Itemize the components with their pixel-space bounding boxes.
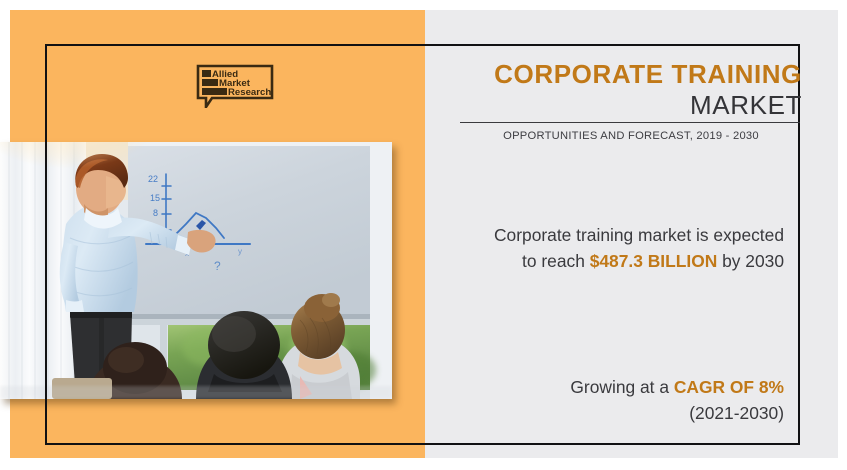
- page-title-secondary: MARKET: [460, 91, 802, 120]
- title-divider-rule: [460, 122, 800, 123]
- infographic-root: 22 15 8 3 x y ?: [0, 0, 847, 470]
- page-title-primary: CORPORATE TRAINING: [460, 60, 802, 89]
- svg-text:Research: Research: [228, 87, 271, 98]
- market-value-statement: Corporate training market is expected to…: [440, 222, 784, 275]
- stat-line-1: Corporate training market is expected: [494, 225, 784, 245]
- market-value-highlight: $487.3 BILLION: [590, 251, 718, 271]
- cagr-highlight: CAGR OF 8%: [674, 377, 784, 397]
- classroom-training-photo: 22 15 8 3 x y ?: [0, 142, 392, 399]
- cagr-line-1-prefix: Growing at a: [570, 377, 673, 397]
- stat-line-2-prefix: to reach: [522, 251, 590, 271]
- title-block: CORPORATE TRAINING MARKET: [460, 60, 802, 120]
- allied-market-research-logo: Allied Market Research: [196, 64, 274, 108]
- cagr-statement: Growing at a CAGR OF 8% (2021-2030): [440, 374, 784, 427]
- svg-text:?: ?: [214, 259, 221, 273]
- cagr-period: (2021-2030): [689, 403, 784, 423]
- stat-line-2-suffix: by 2030: [717, 251, 784, 271]
- text-column: CORPORATE TRAINING MARKET OPPORTUNITIES …: [440, 44, 798, 445]
- subtitle: OPPORTUNITIES AND FORECAST, 2019 - 2030: [460, 130, 802, 142]
- svg-text:y: y: [238, 247, 242, 256]
